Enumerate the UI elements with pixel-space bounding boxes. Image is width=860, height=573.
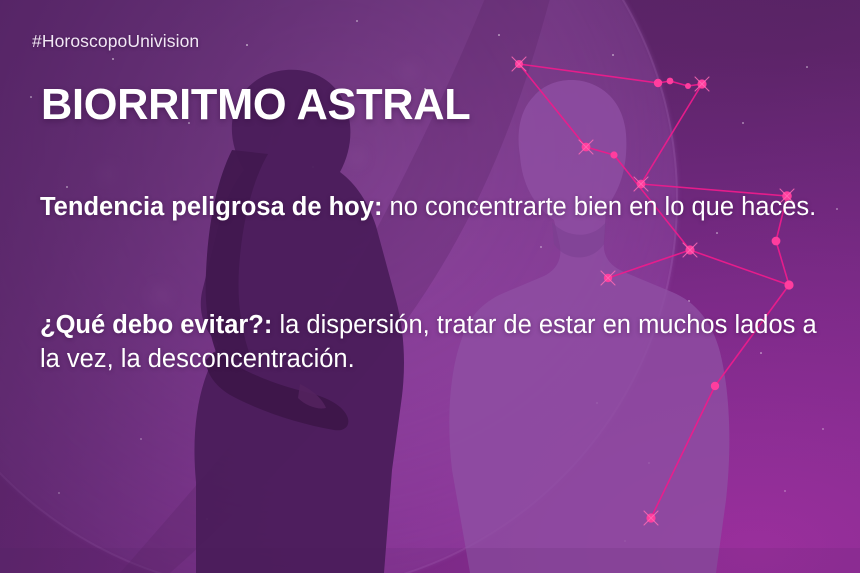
paragraph-tendencia-text: no concentrarte bien en lo que haces. — [382, 193, 816, 221]
page-title: BIORRITMO ASTRAL — [41, 80, 470, 130]
horoscope-card: #HoroscopoUnivision BIORRITMO ASTRAL Ten… — [0, 0, 860, 573]
hashtag-label: #HoroscopoUnivision — [32, 31, 199, 52]
paragraph-evitar-label: ¿Qué debo evitar?: — [40, 311, 272, 339]
paragraph-tendencia: Tendencia peligrosa de hoy: no concentra… — [40, 190, 830, 224]
paragraph-tendencia-label: Tendencia peligrosa de hoy: — [40, 193, 382, 221]
text-content: #HoroscopoUnivision BIORRITMO ASTRAL Ten… — [0, 0, 860, 573]
paragraph-evitar: ¿Qué debo evitar?: la dispersión, tratar… — [40, 308, 830, 376]
